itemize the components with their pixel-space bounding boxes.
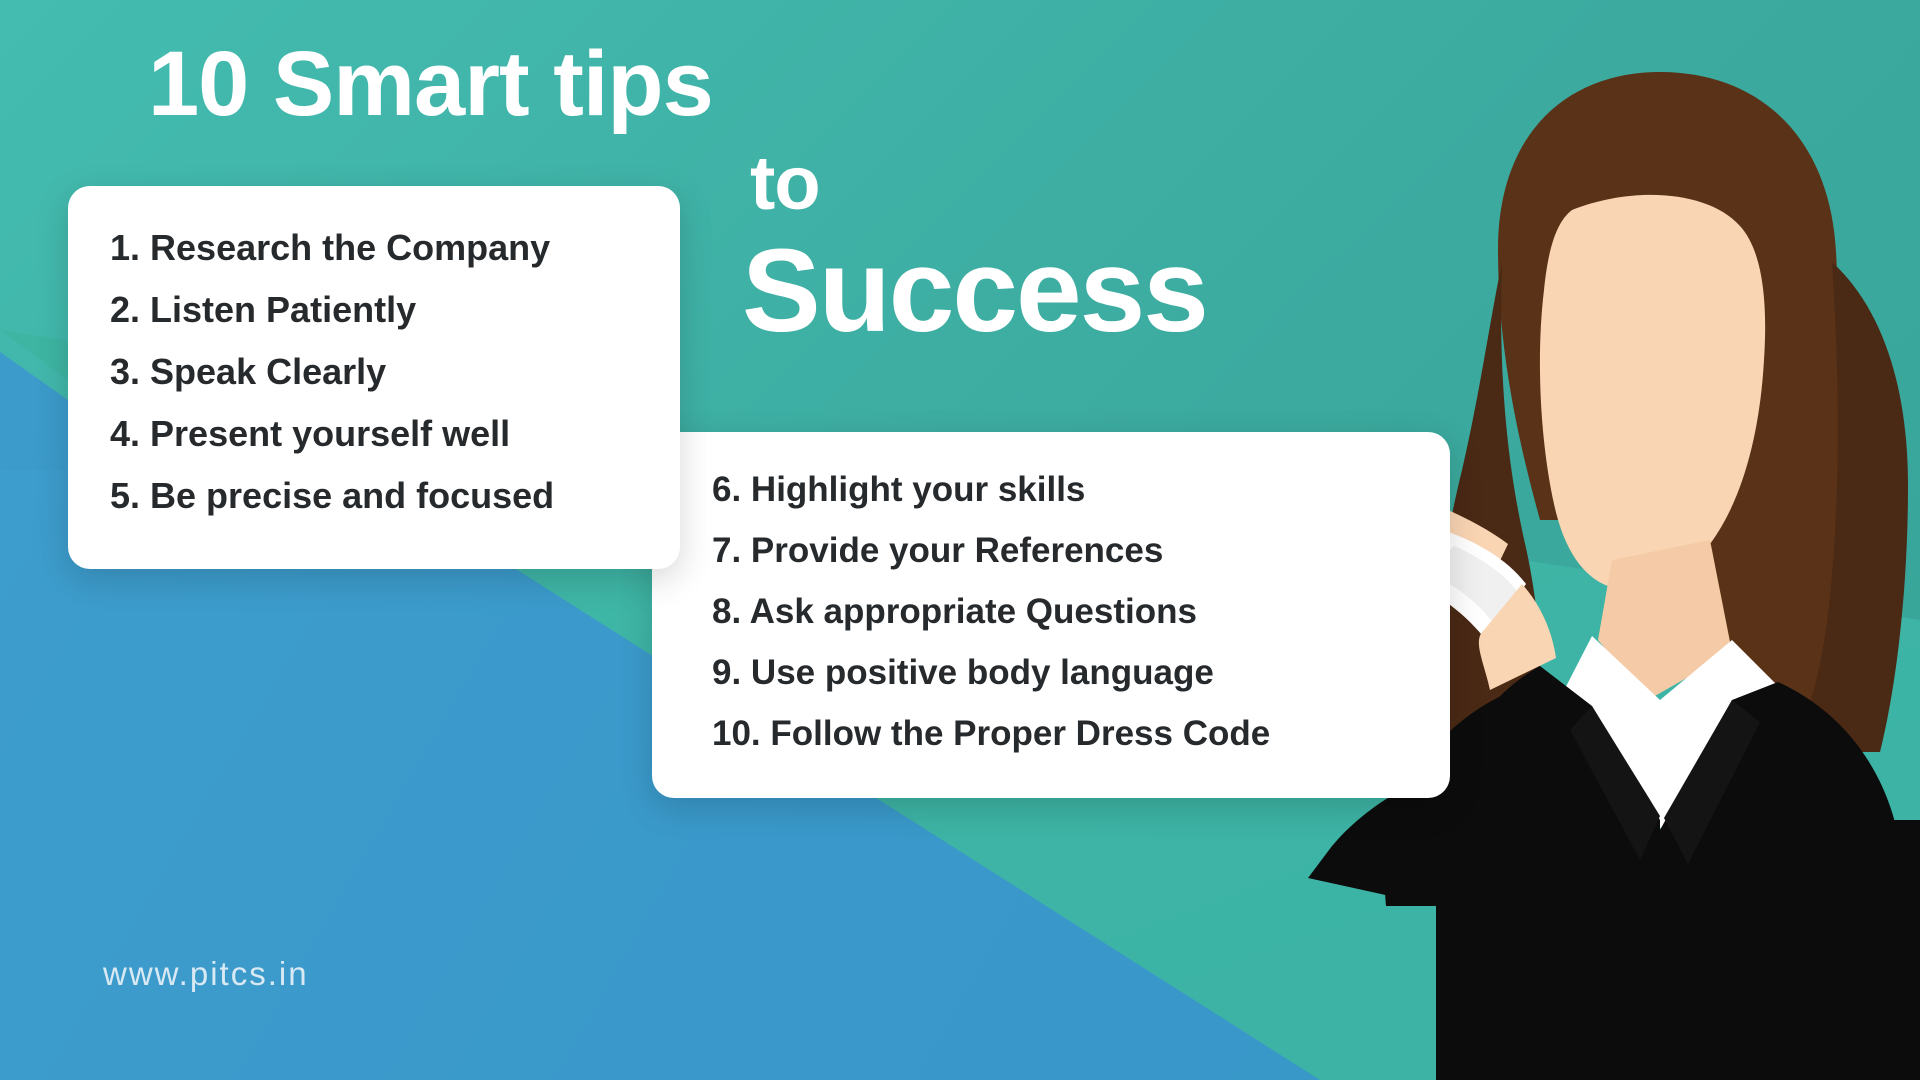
- infographic-poster: 10 Smart tips to Success 1. Research the…: [0, 0, 1920, 1080]
- list-item: 2. Listen Patiently: [110, 292, 680, 328]
- list-item: 6. Highlight your skills: [712, 472, 1450, 507]
- tips-list-left: 1. Research the Company 2. Listen Patien…: [68, 186, 680, 514]
- list-item: 1. Research the Company: [110, 230, 680, 266]
- list-item: 10. Follow the Proper Dress Code: [712, 716, 1450, 751]
- tips-card-right: 6. Highlight your skills 7. Provide your…: [652, 432, 1450, 798]
- website-url: www.pitcs.in: [103, 955, 309, 993]
- tips-card-left: 1. Research the Company 2. Listen Patien…: [68, 186, 680, 569]
- list-item: 9. Use positive body language: [712, 655, 1450, 690]
- list-item: 8. Ask appropriate Questions: [712, 594, 1450, 629]
- list-item: 4. Present yourself well: [110, 416, 680, 452]
- list-item: 7. Provide your References: [712, 533, 1450, 568]
- list-item: 5. Be precise and focused: [110, 478, 680, 514]
- list-item: 3. Speak Clearly: [110, 354, 680, 390]
- tips-list-right: 6. Highlight your skills 7. Provide your…: [652, 432, 1450, 751]
